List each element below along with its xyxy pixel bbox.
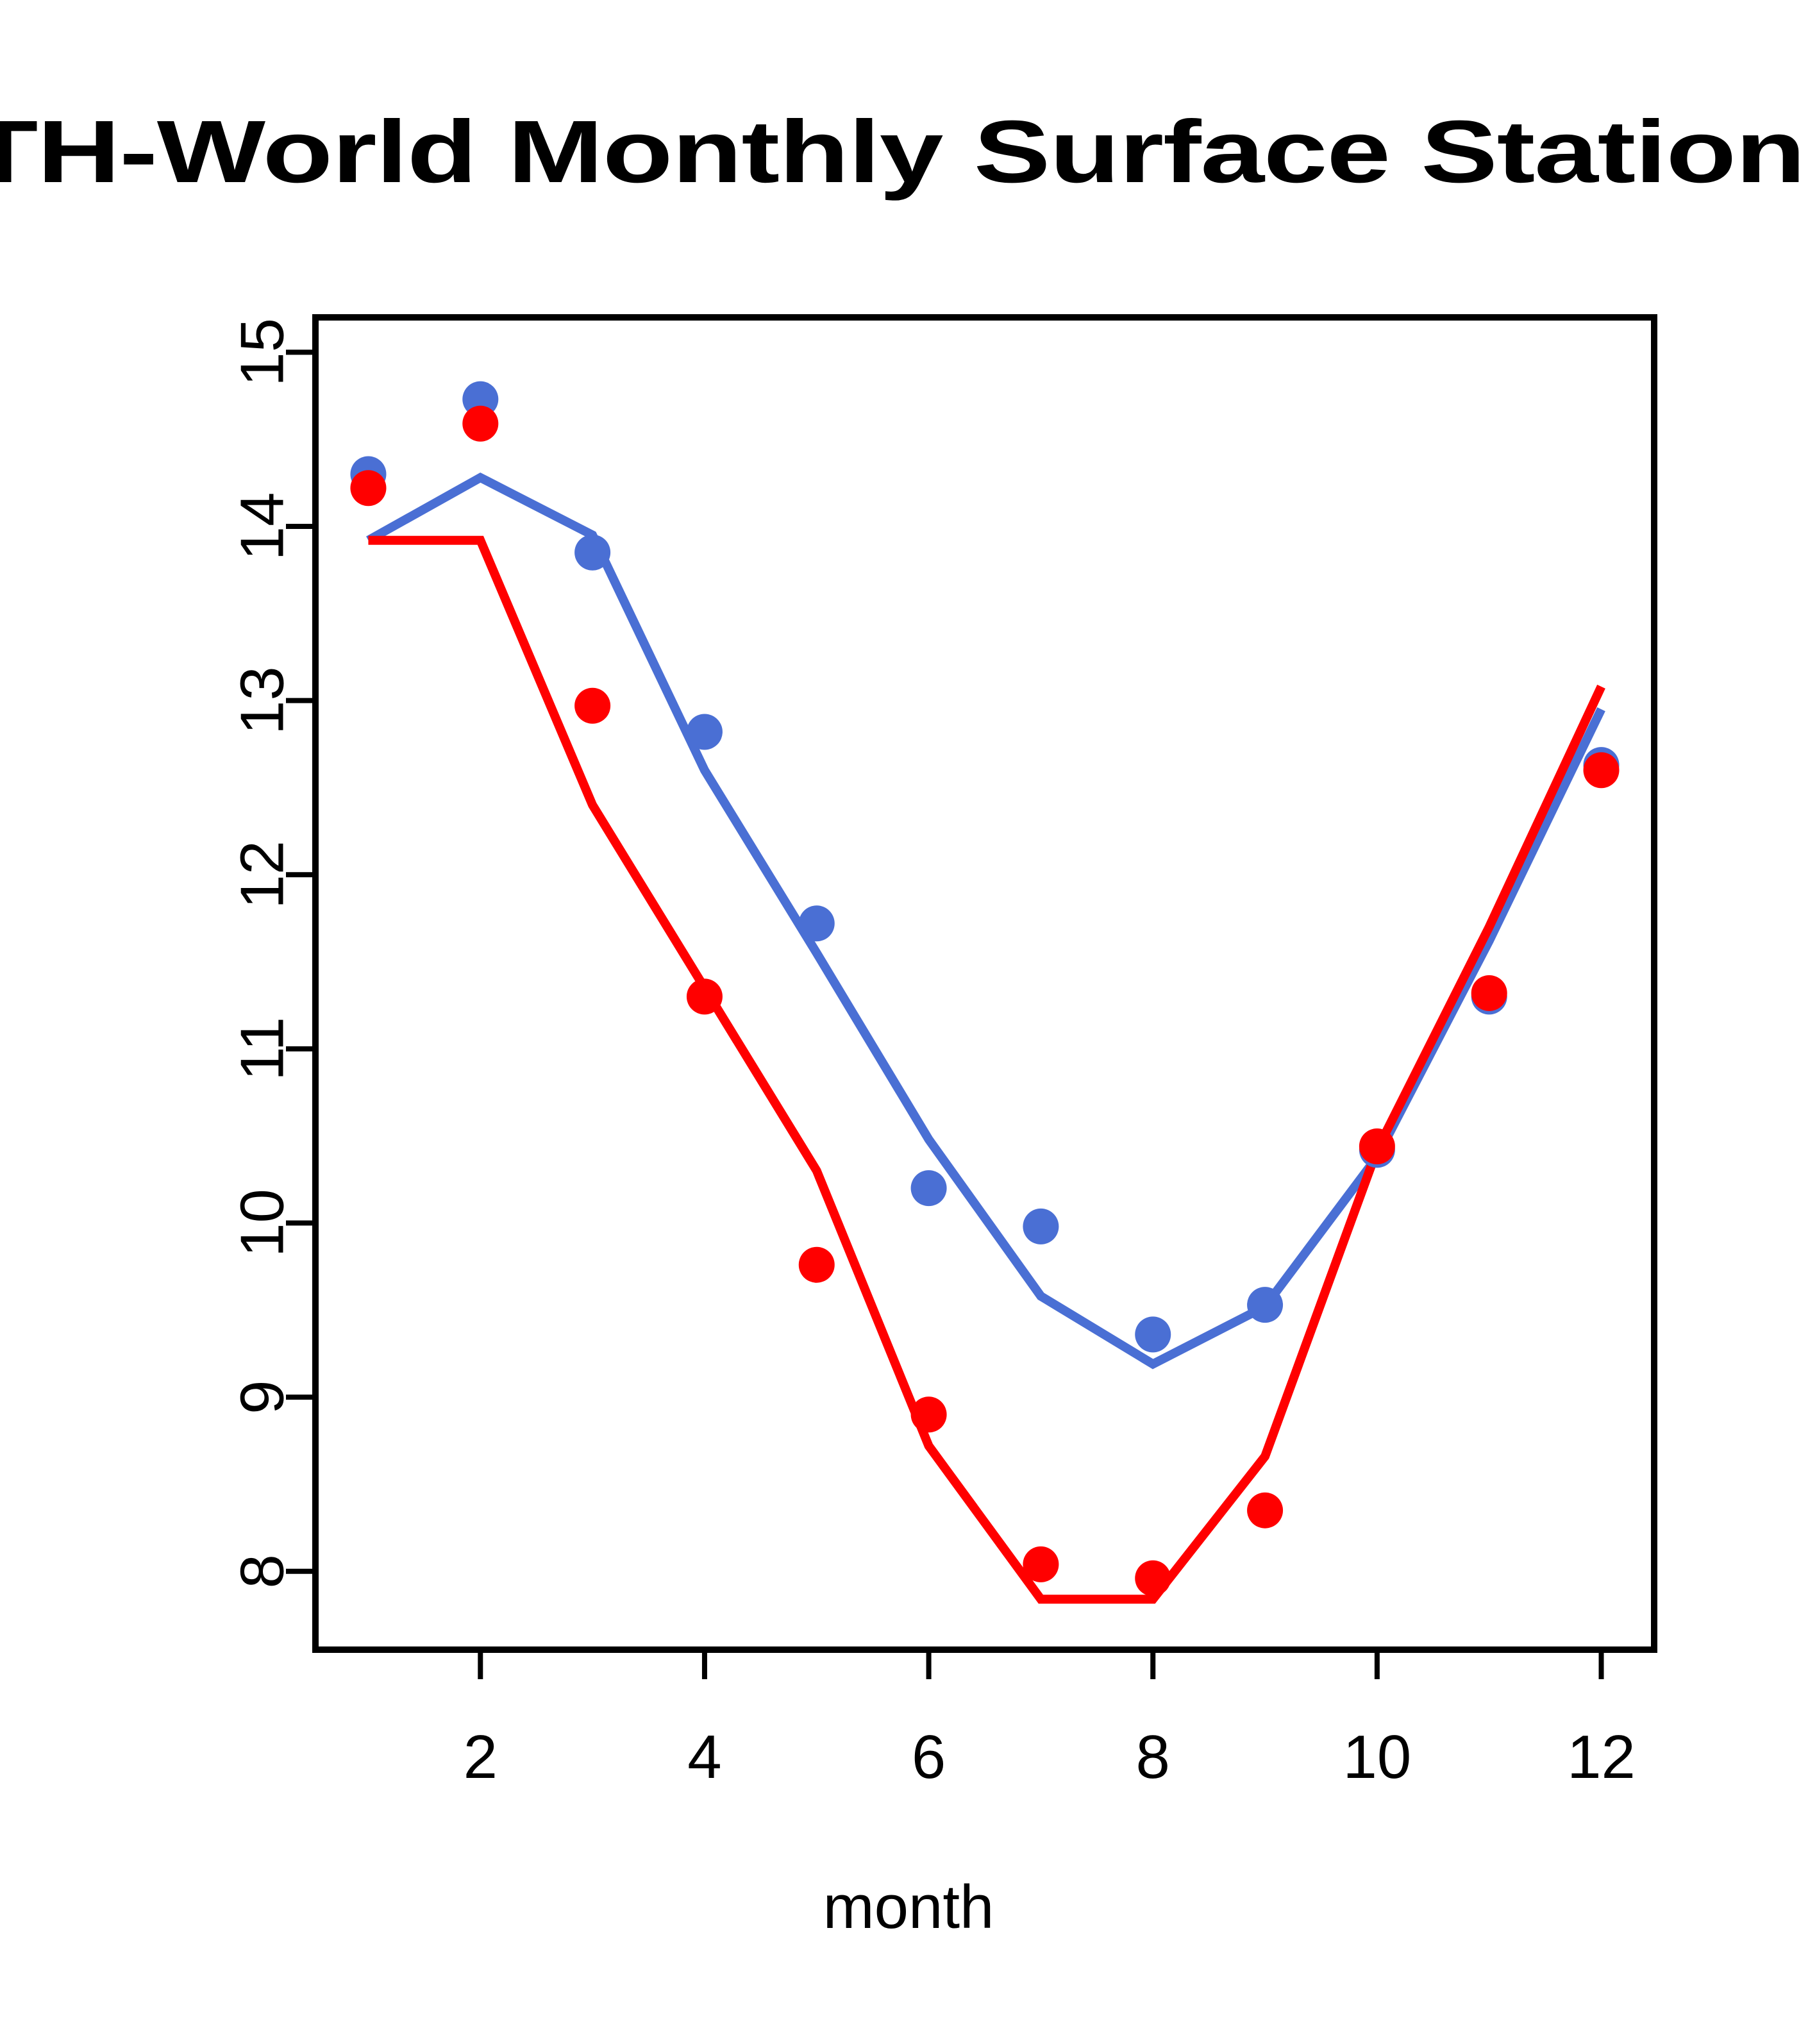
data-point-red-points: [1471, 975, 1507, 1011]
data-point-blue-points: [1135, 1316, 1171, 1352]
data-point-red-points: [574, 688, 610, 724]
plot-frame: [315, 317, 1654, 1650]
data-point-red-points: [1135, 1561, 1171, 1596]
data-point-red-points: [799, 1247, 835, 1283]
x-axis-tick-label: 10: [1343, 1723, 1411, 1791]
data-point-blue-points: [799, 905, 835, 941]
x-axis-tick-label: 2: [464, 1723, 498, 1791]
y-axis-tick-label: 8: [228, 1554, 296, 1588]
y-axis-tick-label: 14: [228, 492, 296, 561]
data-point-red-points: [1584, 752, 1620, 788]
data-point-red-points: [462, 406, 498, 442]
chart-canvas: EARTH-World Monthly Surface Station Clim…: [0, 0, 1817, 2044]
data-point-blue-points: [574, 535, 610, 571]
series-line-blue-line: [368, 478, 1601, 1364]
data-point-red-points: [687, 978, 723, 1014]
data-point-red-points: [1247, 1493, 1283, 1529]
y-axis-tick-label: 11: [228, 1017, 296, 1081]
data-point-red-points: [350, 470, 386, 506]
data-point-red-points: [1359, 1128, 1395, 1164]
y-axis-tick-label: 9: [228, 1380, 296, 1414]
data-point-blue-points: [1023, 1209, 1059, 1244]
y-axis-tick-label: 10: [228, 1189, 296, 1257]
data-point-red-points: [1023, 1546, 1059, 1582]
y-axis-tick-label: 12: [228, 841, 296, 909]
data-point-blue-points: [687, 714, 723, 750]
y-axis-tick-label: 13: [228, 666, 296, 735]
x-axis-label: month: [0, 1872, 1817, 1943]
x-axis-tick-label: 4: [687, 1723, 721, 1791]
y-axis-tick-label: 15: [228, 318, 296, 387]
x-axis-tick-label: 6: [912, 1723, 946, 1791]
plot-area-svg: 8910111213141524681012: [0, 0, 1817, 2044]
series-line-red-line: [368, 540, 1601, 1600]
x-axis-tick-label: 12: [1567, 1723, 1636, 1791]
data-point-blue-points: [911, 1170, 947, 1206]
x-axis-tick-label: 8: [1136, 1723, 1170, 1791]
data-point-blue-points: [1247, 1287, 1283, 1323]
data-point-red-points: [911, 1396, 947, 1432]
